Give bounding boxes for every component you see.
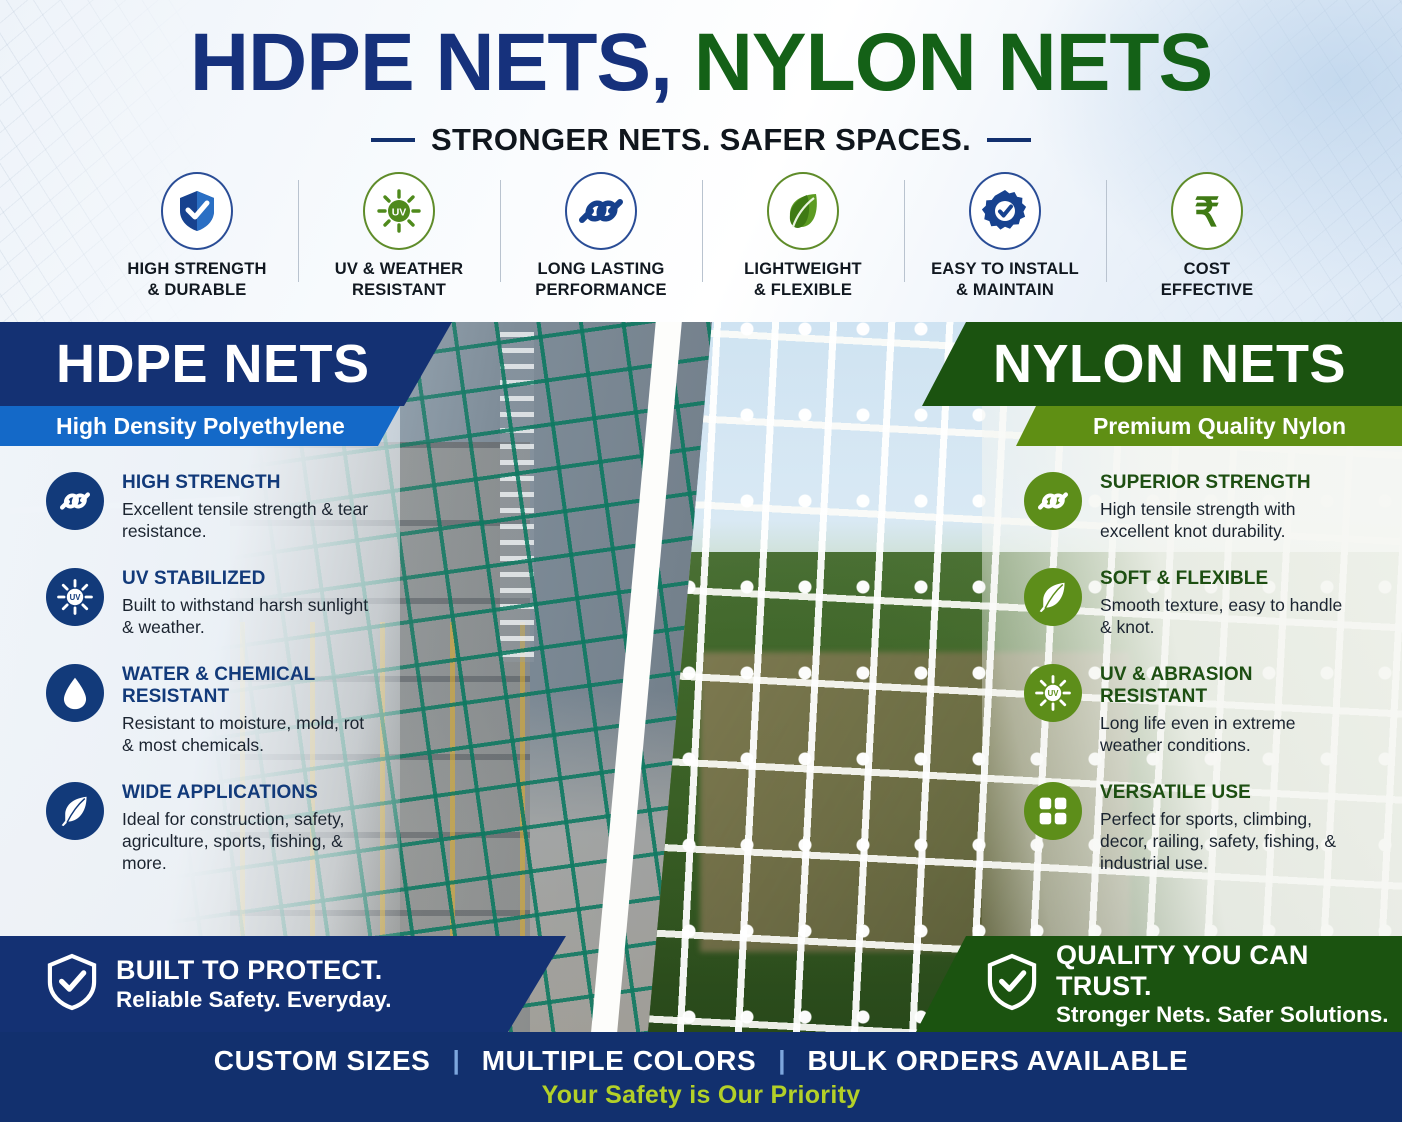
comparison-section: HDPE NETS High Density Polyethylene NYLO… [0,322,1402,1032]
feature-badge-lightweight: LIGHTWEIGHT & FLEXIBLE [702,172,904,301]
gear-check-icon [969,172,1041,250]
nylon-sub-banner: Premium Quality Nylon [1012,406,1402,446]
nylon-banner-title: NYLON NETS [993,333,1346,395]
feature-badge-easy-install: EASY TO INSTALL & MAINTAIN [904,172,1106,301]
list-item: VERSATILE USE Perfect for sports, climbi… [1024,780,1354,874]
list-item-body: SUPERIOR STRENGTH High tensile strength … [1100,470,1354,542]
list-item-title: SUPERIOR STRENGTH [1100,472,1354,494]
rule-right [987,138,1031,142]
trust-headline: BUILT TO PROTECT. [116,955,392,986]
list-item-body: WATER & CHEMICAL RESISTANT Resistant to … [122,662,376,756]
trust-subline: Stronger Nets. Safer Solutions. [1056,1001,1402,1028]
list-item-desc: Excellent tensile strength & tear resist… [122,498,376,542]
svg-text:UV: UV [1048,689,1060,698]
nylon-banner: NYLON NETS [916,322,1402,406]
subtitle-row: STRONGER NETS. SAFER SPACES. [0,122,1402,158]
list-item-body: UV & ABRASION RESISTANT Long life even i… [1100,662,1354,756]
feather-icon [1024,568,1082,626]
list-item: HIGH STRENGTH Excellent tensile strength… [46,470,376,542]
header-section: HDPE NETS, NYLON NETS STRONGER NETS. SAF… [0,0,1402,322]
list-item-desc: Ideal for construction, safety, agricult… [122,808,376,875]
list-item-desc: Resistant to moisture, mold, rot & most … [122,712,376,756]
svg-text:₹: ₹ [1194,191,1219,234]
list-item-title: UV & ABRASION RESISTANT [1100,664,1354,707]
feature-badge-long-lasting: LONG LASTING PERFORMANCE [500,172,702,301]
list-item-body: VERSATILE USE Perfect for sports, climbi… [1100,780,1354,874]
nylon-banner-subtitle: Premium Quality Nylon [1093,413,1346,440]
feather-icon [46,782,104,840]
svg-text:UV: UV [70,593,82,602]
footer-tagline: Your Safety is Our Priority [542,1081,861,1110]
list-item-title: UV STABILIZED [122,568,376,590]
footer-separator: | [778,1045,785,1076]
uv-sun-icon: UV [1024,664,1082,722]
hdpe-banner-subtitle: High Density Polyethylene [56,413,345,440]
shield-check-icon [986,953,1038,1016]
hdpe-feature-list: HIGH STRENGTH Excellent tensile strength… [46,470,376,898]
hdpe-sub-banner: High Density Polyethylene [0,406,400,446]
feature-badge-label: UV & WEATHER RESISTANT [335,259,464,301]
title-nylon: NYLON NETS [694,17,1212,108]
nylon-trust-bar: QUALITY YOU CAN TRUST. Stronger Nets. Sa… [916,936,1402,1032]
hdpe-trust-text: BUILT TO PROTECT. Reliable Safety. Every… [116,955,392,1013]
nylon-trust-text: QUALITY YOU CAN TRUST. Stronger Nets. Sa… [1056,940,1402,1029]
footer-bar: CUSTOM SIZES | MULTIPLE COLORS | BULK OR… [0,1032,1402,1122]
footer-items-row: CUSTOM SIZES | MULTIPLE COLORS | BULK OR… [214,1045,1189,1077]
list-item: SOFT & FLEXIBLE Smooth texture, easy to … [1024,566,1354,638]
title-hdpe: HDPE NETS, [190,17,672,108]
feature-badges-row: HIGH STRENGTH & DURABLE UV [96,172,1308,304]
page-title: HDPE NETS, NYLON NETS [0,22,1402,104]
list-item-body: SOFT & FLEXIBLE Smooth texture, easy to … [1100,566,1354,638]
list-item-desc: Built to withstand harsh sunlight & weat… [122,594,376,638]
list-item: WIDE APPLICATIONS Ideal for construction… [46,780,376,874]
water-drop-icon [46,664,104,722]
hdpe-trust-bar: BUILT TO PROTECT. Reliable Safety. Every… [0,936,566,1032]
uv-sun-icon: UV [363,172,435,250]
list-item: UV UV STABILIZED Built to withstand hars… [46,566,376,638]
hdpe-banner-title: HDPE NETS [56,333,370,395]
feature-badge-label: EASY TO INSTALL & MAINTAIN [931,259,1079,301]
feature-badge-uv-weather: UV UV & WEATHER RESISTANT [298,172,500,301]
list-item-title: SOFT & FLEXIBLE [1100,568,1354,590]
feature-badge-label: LONG LASTING PERFORMANCE [535,259,666,301]
list-item: SUPERIOR STRENGTH High tensile strength … [1024,470,1354,542]
list-item: WATER & CHEMICAL RESISTANT Resistant to … [46,662,376,756]
list-item-desc: Perfect for sports, climbing, decor, rai… [1100,808,1354,875]
list-item-desc: Long life even in extreme weather condit… [1100,712,1354,756]
list-item-title: WIDE APPLICATIONS [122,782,376,804]
footer-item-bulk-orders: BULK ORDERS AVAILABLE [808,1045,1189,1077]
list-item-body: WIDE APPLICATIONS Ideal for construction… [122,780,376,874]
nylon-feature-list: SUPERIOR STRENGTH High tensile strength … [1024,470,1354,898]
footer-item-multiple-colors: MULTIPLE COLORS [482,1045,756,1077]
rupee-icon: ₹ [1171,172,1243,250]
infographic-poster: HDPE NETS, NYLON NETS STRONGER NETS. SAF… [0,0,1402,1122]
rule-left [371,138,415,142]
list-item-title: HIGH STRENGTH [122,472,376,494]
feature-badge-high-strength: HIGH STRENGTH & DURABLE [96,172,298,301]
list-item-desc: Smooth texture, easy to handle & knot. [1100,594,1354,638]
list-item-body: UV STABILIZED Built to withstand harsh s… [122,566,376,638]
list-item-body: HIGH STRENGTH Excellent tensile strength… [122,470,376,542]
uv-sun-icon: UV [46,568,104,626]
list-item: UV UV & ABRASION RESISTANT Long life eve… [1024,662,1354,756]
shield-check-icon [46,953,98,1016]
feature-badge-label: LIGHTWEIGHT & FLEXIBLE [744,259,862,301]
trust-headline: QUALITY YOU CAN TRUST. [1056,940,1402,1002]
footer-item-custom-sizes: CUSTOM SIZES [214,1045,431,1077]
chain-link-icon [46,472,104,530]
shield-check-icon [161,172,233,250]
footer-separator: | [452,1045,459,1076]
chain-link-icon [1024,472,1082,530]
page-subtitle: STRONGER NETS. SAFER SPACES. [431,122,971,158]
list-item-desc: High tensile strength with excellent kno… [1100,498,1354,542]
feature-badge-label: COST EFFECTIVE [1161,259,1254,301]
feature-badge-label: HIGH STRENGTH & DURABLE [127,259,266,301]
feature-badge-cost-effective: ₹ COST EFFECTIVE [1106,172,1308,301]
grid-squares-icon [1024,782,1082,840]
hdpe-banner: HDPE NETS [0,322,452,406]
leaf-icon [767,172,839,250]
list-item-title: VERSATILE USE [1100,782,1354,804]
trust-subline: Reliable Safety. Everyday. [116,986,392,1013]
svg-text:UV: UV [392,207,407,219]
list-item-title: WATER & CHEMICAL RESISTANT [122,664,376,707]
chain-link-icon [565,172,637,250]
